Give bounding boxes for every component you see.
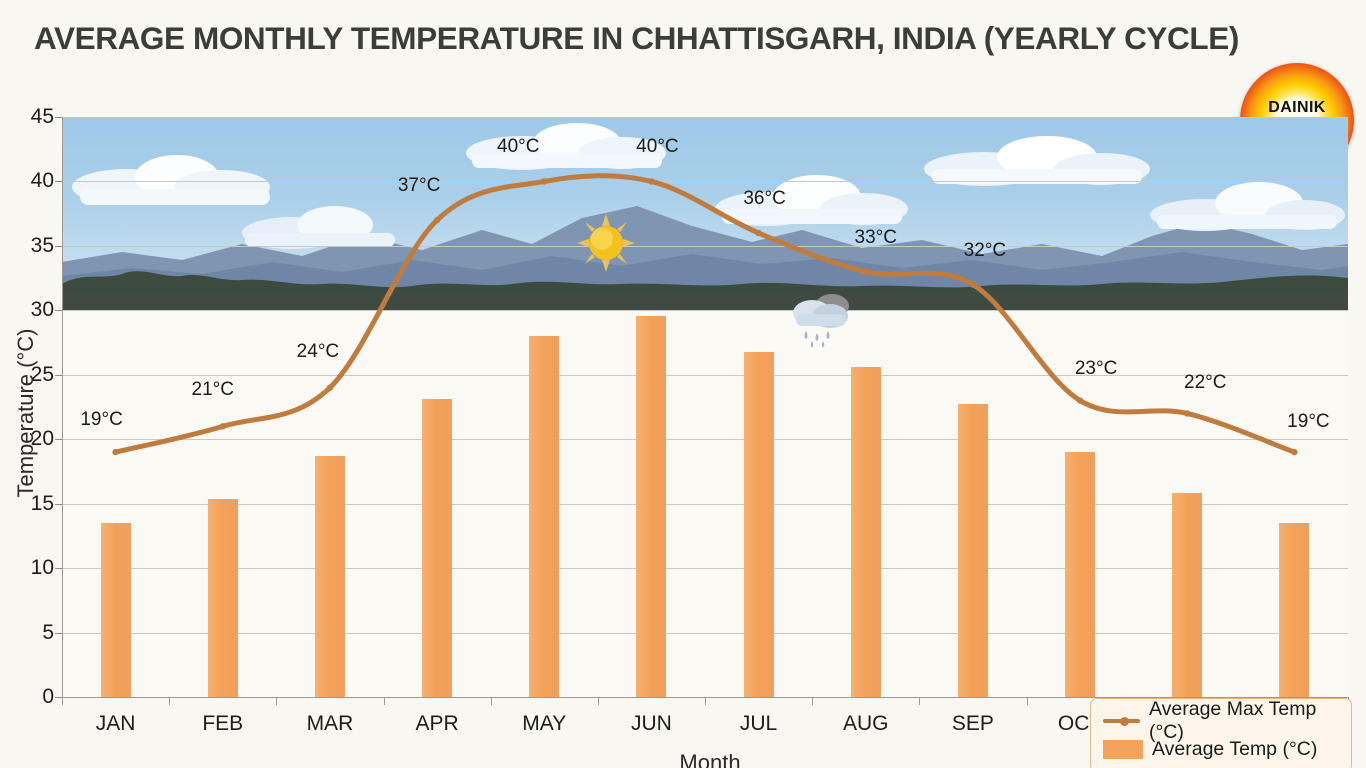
legend-item-max-temp[interactable]: Average Max Temp (°C) [1103, 707, 1341, 735]
y-axis-title: Temperature (°C) [13, 303, 39, 523]
x-tick-mark-may [491, 697, 492, 705]
x-tick-label-may: MAY [484, 712, 604, 736]
y-axis-line [62, 117, 63, 697]
y-tick-mark-30 [55, 310, 62, 311]
data-label-may: 40°C [497, 136, 539, 158]
max-temp-point-may[interactable] [541, 178, 547, 184]
y-tick-label-10: 10 [8, 556, 54, 580]
y-tick-mark-35 [55, 246, 62, 247]
y-tick-mark-0 [55, 697, 62, 698]
x-tick-mark-jan [62, 697, 63, 705]
data-label-nov: 22°C [1184, 372, 1226, 394]
max-temp-curve [116, 176, 1295, 452]
plot-area: 19°C21°C24°C37°C40°C40°C36°C33°C32°C23°C… [62, 117, 1348, 697]
max-temp-point-jan[interactable] [112, 449, 118, 455]
x-tick-mark-mar [276, 697, 277, 705]
max-temp-point-feb[interactable] [220, 423, 226, 429]
x-tick-label-jul: JUL [699, 712, 819, 736]
legend-line-swatch [1103, 719, 1140, 723]
y-tick-mark-25 [55, 375, 62, 376]
line-series-average-max-temp [62, 117, 1348, 697]
x-tick-label-apr: APR [377, 712, 497, 736]
x-tick-mark-feb [169, 697, 170, 705]
data-label-aug: 33°C [855, 227, 897, 249]
data-label-mar: 24°C [297, 341, 339, 363]
chart-legend[interactable]: Average Max Temp (°C) Average Temp (°C) [1090, 698, 1352, 768]
y-tick-mark-5 [55, 633, 62, 634]
data-label-dec: 19°C [1287, 411, 1329, 433]
legend-item-avg-temp[interactable]: Average Temp (°C) [1103, 735, 1341, 763]
max-temp-point-dec[interactable] [1291, 449, 1297, 455]
max-temp-point-nov[interactable] [1184, 410, 1190, 416]
y-tick-mark-10 [55, 568, 62, 569]
y-tick-mark-45 [55, 117, 62, 118]
x-tick-label-jan: JAN [56, 712, 176, 736]
max-temp-point-oct[interactable] [1077, 397, 1083, 403]
y-tick-label-45: 45 [8, 105, 54, 129]
max-temp-point-jul[interactable] [755, 230, 761, 236]
x-tick-label-aug: AUG [806, 712, 926, 736]
y-tick-label-40: 40 [8, 169, 54, 193]
max-temp-point-mar[interactable] [327, 384, 333, 390]
x-tick-mark-oct [1027, 697, 1028, 705]
x-tick-mark-aug [812, 697, 813, 705]
x-tick-mark-jun [598, 697, 599, 705]
y-tick-label-0: 0 [8, 685, 54, 709]
data-label-jul: 36°C [743, 188, 785, 210]
legend-bar-swatch [1103, 740, 1143, 759]
data-label-feb: 21°C [192, 379, 234, 401]
x-tick-label-mar: MAR [270, 712, 390, 736]
max-temp-point-aug[interactable] [863, 268, 869, 274]
x-tick-label-feb: FEB [163, 712, 283, 736]
y-tick-label-35: 35 [8, 234, 54, 258]
y-tick-mark-15 [55, 504, 62, 505]
y-tick-mark-20 [55, 439, 62, 440]
max-temp-point-apr[interactable] [434, 217, 440, 223]
x-tick-mark-apr [384, 697, 385, 705]
x-tick-mark-jul [705, 697, 706, 705]
sun-icon [575, 212, 637, 274]
chart-page: AVERAGE MONTHLY TEMPERATURE IN CHHATTISG… [0, 0, 1366, 768]
y-tick-mark-40 [55, 181, 62, 182]
data-label-jun: 40°C [636, 136, 678, 158]
max-temp-point-sep[interactable] [970, 281, 976, 287]
chart-container: 19°C21°C24°C37°C40°C40°C36°C33°C32°C23°C… [0, 100, 1366, 768]
data-label-apr: 37°C [398, 175, 440, 197]
data-label-sep: 32°C [964, 240, 1006, 262]
x-tick-mark-sep [919, 697, 920, 705]
x-tick-label-jun: JUN [591, 712, 711, 736]
page-title: AVERAGE MONTHLY TEMPERATURE IN CHHATTISG… [34, 20, 1354, 57]
y-tick-label-5: 5 [8, 621, 54, 645]
rain-cloud-icon [790, 289, 854, 349]
data-label-jan: 19°C [80, 409, 122, 431]
data-label-oct: 23°C [1075, 358, 1117, 380]
x-tick-label-sep: SEP [913, 712, 1033, 736]
legend-label-avg-temp: Average Temp (°C) [1152, 738, 1317, 761]
max-temp-point-jun[interactable] [648, 178, 654, 184]
